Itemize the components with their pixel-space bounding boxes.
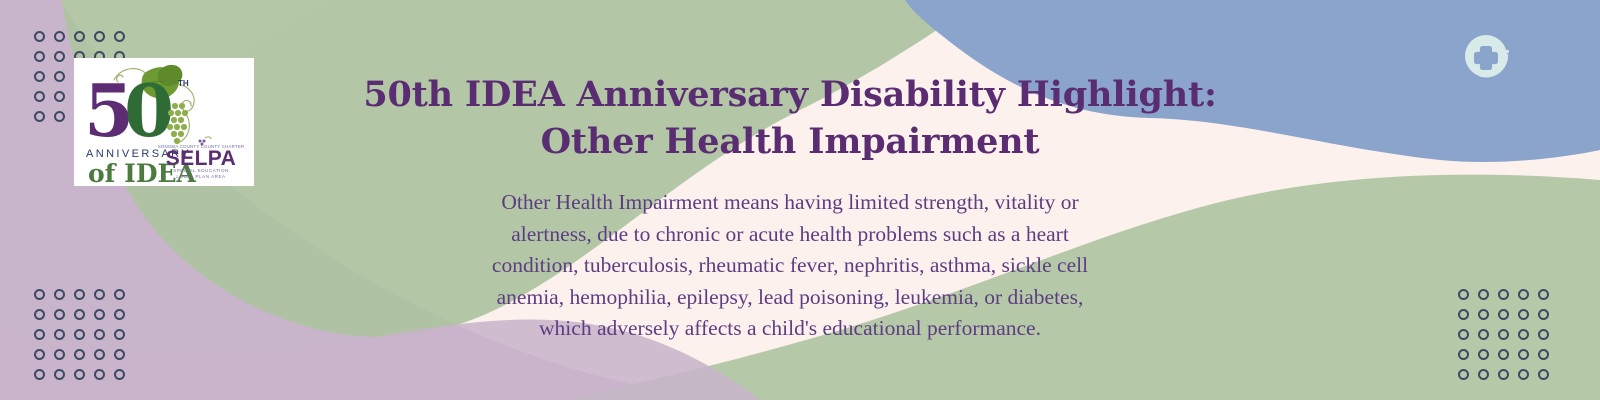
dot bbox=[94, 369, 105, 380]
headline-line-1: 50th IDEA Anniversary Disability Highlig… bbox=[363, 72, 1216, 119]
dot bbox=[114, 31, 125, 42]
dot bbox=[34, 369, 45, 380]
dot bbox=[54, 369, 65, 380]
selpa-50th-anniversary-logo: 5 0 TH ANNIVERSARY of IDEA SONOMA COUNTY… bbox=[74, 58, 254, 186]
dot bbox=[94, 309, 105, 320]
dot bbox=[1458, 309, 1469, 320]
dot bbox=[1478, 329, 1489, 340]
dot bbox=[114, 369, 125, 380]
dot bbox=[54, 31, 65, 42]
dot bbox=[54, 111, 65, 122]
dot bbox=[1458, 329, 1469, 340]
dot bbox=[1478, 289, 1489, 300]
dot bbox=[1538, 369, 1549, 380]
page-title: 50th IDEA Anniversary Disability Highlig… bbox=[363, 72, 1216, 165]
dot bbox=[114, 309, 125, 320]
dot bbox=[74, 349, 85, 360]
dot bbox=[1498, 329, 1509, 340]
dot bbox=[1518, 369, 1529, 380]
dot bbox=[94, 289, 105, 300]
body-line-3: condition, tuberculosis, rheumatic fever… bbox=[492, 250, 1088, 282]
dot bbox=[1538, 289, 1549, 300]
dot bbox=[1538, 309, 1549, 320]
dot-grid-bottom-right bbox=[1458, 289, 1558, 389]
dot bbox=[34, 349, 45, 360]
dot bbox=[74, 329, 85, 340]
dot bbox=[1538, 329, 1549, 340]
dot bbox=[54, 51, 65, 62]
dot bbox=[1498, 309, 1509, 320]
medical-icon-accent-dot bbox=[1505, 50, 1509, 54]
dot bbox=[1498, 369, 1509, 380]
dot bbox=[54, 289, 65, 300]
dot bbox=[54, 349, 65, 360]
dot bbox=[114, 349, 125, 360]
dot bbox=[1478, 309, 1489, 320]
logo-number-zero: 0 bbox=[124, 68, 174, 153]
selpa-sub-line-1: SPECIAL EDUCATION bbox=[173, 168, 229, 173]
dot bbox=[1518, 329, 1529, 340]
dot bbox=[34, 51, 45, 62]
dot bbox=[74, 289, 85, 300]
dot bbox=[1538, 349, 1549, 360]
dot bbox=[94, 349, 105, 360]
dot bbox=[1518, 309, 1529, 320]
dot bbox=[1458, 349, 1469, 360]
dot bbox=[1518, 349, 1529, 360]
dot bbox=[34, 71, 45, 82]
dot bbox=[74, 369, 85, 380]
medical-cross-icon bbox=[1462, 32, 1514, 84]
definition-text: Other Health Impairment means having lim… bbox=[492, 187, 1088, 345]
dot bbox=[34, 329, 45, 340]
selpa-sub-line-2: LOCAL PLAN AREA bbox=[176, 174, 226, 179]
dot bbox=[1478, 369, 1489, 380]
headline-line-2: Other Health Impairment bbox=[363, 119, 1216, 166]
dot bbox=[1458, 289, 1469, 300]
dot bbox=[54, 309, 65, 320]
body-line-1: Other Health Impairment means having lim… bbox=[492, 187, 1088, 219]
body-line-2: alertness, due to chronic or acute healt… bbox=[492, 219, 1088, 251]
dot bbox=[94, 329, 105, 340]
dot bbox=[114, 289, 125, 300]
dot bbox=[1478, 349, 1489, 360]
dot bbox=[34, 91, 45, 102]
dot bbox=[1518, 289, 1529, 300]
logo-artwork: 5 0 TH ANNIVERSARY of IDEA SONOMA COUNTY… bbox=[74, 58, 254, 186]
dot bbox=[34, 309, 45, 320]
dot bbox=[94, 31, 105, 42]
dot bbox=[114, 329, 125, 340]
dot bbox=[54, 91, 65, 102]
selpa-acronym: SELPA bbox=[166, 147, 236, 170]
body-line-4: anemia, hemophilia, epilepsy, lead poiso… bbox=[492, 282, 1088, 314]
dot bbox=[74, 309, 85, 320]
dot bbox=[34, 289, 45, 300]
dot bbox=[34, 31, 45, 42]
dot bbox=[54, 329, 65, 340]
logo-superscript-th: TH bbox=[178, 79, 189, 88]
dot bbox=[34, 111, 45, 122]
idea-anniversary-banner: 5 0 TH ANNIVERSARY of IDEA SONOMA COUNTY… bbox=[0, 0, 1600, 400]
body-line-5: which adversely affects a child's educat… bbox=[492, 313, 1088, 345]
dot bbox=[1458, 369, 1469, 380]
dot bbox=[1498, 289, 1509, 300]
dot-grid-bottom-left bbox=[34, 289, 134, 389]
dot bbox=[54, 71, 65, 82]
banner-content: 50th IDEA Anniversary Disability Highlig… bbox=[300, 0, 1280, 400]
dot bbox=[1498, 349, 1509, 360]
dot bbox=[74, 31, 85, 42]
